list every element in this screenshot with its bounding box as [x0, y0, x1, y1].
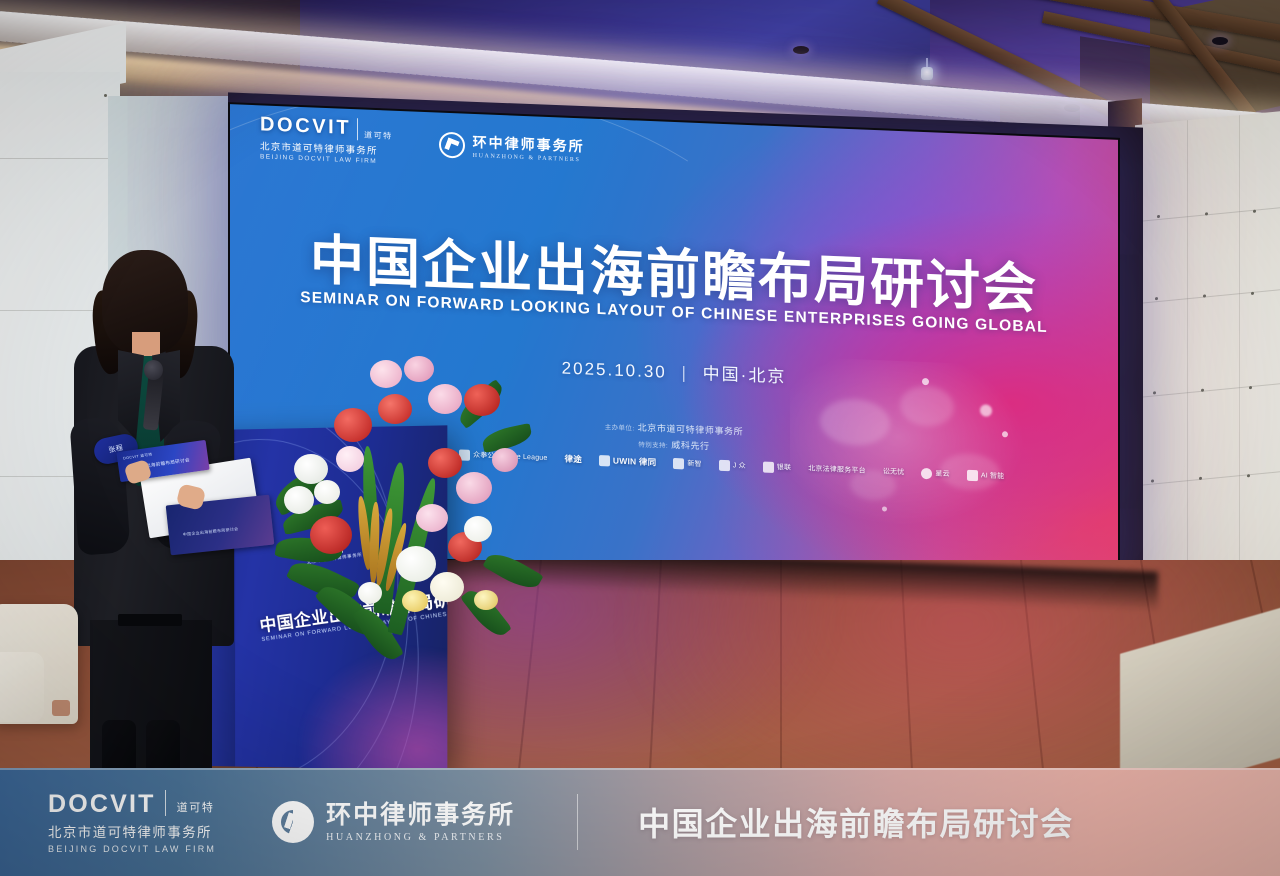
sponsor-label: 银联 — [777, 462, 791, 473]
sponsor-item: J 众 — [719, 459, 746, 471]
sponsor-item: 讼无忧 — [883, 466, 905, 477]
cohost-name: 威科先行 — [671, 440, 709, 452]
uwin-icon — [599, 454, 610, 465]
banner-docvit-cn-full: 北京市道可特律师事务所 — [48, 821, 216, 841]
ai-icon — [967, 469, 978, 480]
banner-docvit-cn-short: 道可特 — [177, 799, 215, 817]
banner-docvit-wordmark: DOCVIT — [48, 792, 156, 817]
sponsor-label: 新智 — [687, 459, 701, 470]
huanzhong-mark-icon — [272, 801, 314, 843]
sponsor-label: 星云 — [935, 468, 949, 479]
sponsor-label: AI 智能 — [981, 470, 1005, 481]
sponsor-item: 律途 — [565, 453, 582, 466]
ceiling-pendant-light-icon — [921, 58, 933, 80]
sponsor-label: 律途 — [565, 453, 582, 466]
speaker-belt — [118, 614, 182, 626]
sponsor-label: J 众 — [733, 460, 746, 471]
ceiling-downlight-icon — [1212, 37, 1228, 45]
huanzhong-logo-screen: 环中律师事务所 HUANZHONG & PARTNERS — [439, 131, 585, 164]
ceiling-downlight-icon — [793, 46, 809, 54]
organizer-label: 主办单位: — [605, 424, 635, 432]
screen-location: 中国·北京 — [703, 364, 787, 386]
folder-title-text: 中国企业出海前瞻布局研讨会 — [183, 526, 239, 538]
docvit-logo-screen: DOCVIT 道可特 北京市道可特律师事务所 BEIJING DOCVIT LA… — [260, 113, 393, 165]
huanzhong-mark-icon — [439, 131, 465, 158]
sponsor-item: AI 智能 — [967, 469, 1005, 482]
lounge-sofa-accent — [52, 700, 70, 716]
banner-docvit-divider — [165, 790, 166, 816]
held-card-logo-text: DOCVIT 道可特 — [123, 452, 153, 461]
sponsor-item: UWIN 律同 — [599, 454, 656, 468]
flower-arrangement — [278, 350, 528, 680]
docvit-cn-short: 道可特 — [364, 130, 393, 142]
cohost-label: 特别支持: — [638, 442, 668, 450]
screen-date: 2025.10.30 — [562, 358, 667, 381]
sponsor-item: 新智 — [673, 457, 701, 469]
speaker-neck — [132, 332, 160, 356]
sponsor-label: 北京法律服务平台 — [808, 463, 866, 475]
banner-event-title: 中国企业出海前瞻布局研讨会 — [638, 799, 1074, 845]
screenshot-root: DOCVIT 道可特 北京市道可特律师事务所 BEIJING DOCVIT LA… — [0, 0, 1280, 876]
xinzhi-icon — [673, 457, 684, 468]
sponsor-item: 星云 — [921, 467, 949, 479]
banner-huanzhong-logo: 环中律师事务所 HUANZHONG & PARTNERS — [272, 801, 515, 843]
banner-docvit-en-full: BEIJING DOCVIT LAW FIRM — [48, 844, 216, 854]
j-icon — [719, 459, 730, 470]
union-icon — [763, 461, 774, 472]
sponsor-label: 讼无忧 — [883, 466, 905, 477]
screen-date-separator: | — [682, 363, 688, 382]
banner-huanzhong-cn: 环中律师事务所 — [326, 802, 515, 829]
organizer-name: 北京市道可特律师事务所 — [638, 423, 744, 437]
docvit-divider — [357, 118, 358, 140]
banner-vertical-divider — [577, 794, 578, 850]
bottom-branding-banner: DOCVIT 道可特 北京市道可特律师事务所 BEIJING DOCVIT LA… — [0, 768, 1280, 876]
sponsor-label: UWIN 律同 — [613, 455, 656, 469]
microphone-head-icon — [144, 360, 163, 380]
cloud-icon — [921, 467, 932, 478]
lounge-sofa-arm — [0, 652, 44, 722]
sponsor-item: 银联 — [763, 461, 791, 473]
speaker-person: 张程 中国企业出海前瞻布局研讨会 DOCVIT 道可特 中国企业出海前瞻布局研讨… — [60, 250, 260, 770]
banner-docvit-logo: DOCVIT 道可特 北京市道可特律师事务所 BEIJING DOCVIT LA… — [48, 790, 216, 854]
banner-huanzhong-en: HUANZHONG & PARTNERS — [326, 832, 515, 843]
docvit-wordmark: DOCVIT — [260, 113, 351, 140]
sponsor-item: 北京法律服务平台 — [808, 463, 866, 475]
